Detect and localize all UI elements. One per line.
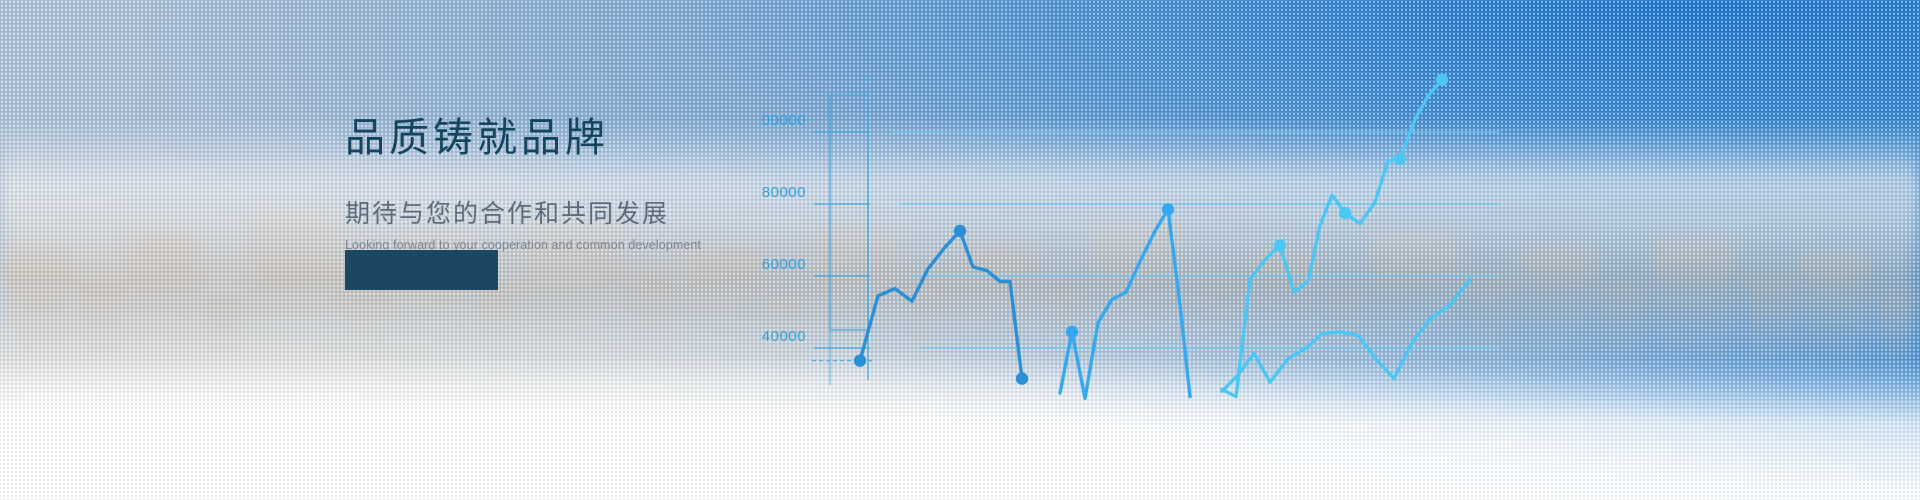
series-marker	[854, 354, 866, 366]
page-title: 品质铸就品牌	[345, 118, 765, 158]
series-marker	[1066, 326, 1078, 338]
series-line-series-1	[860, 231, 1022, 379]
chart-svg: 400006000080000100000	[760, 0, 1920, 500]
hero-cta-button[interactable]	[345, 250, 498, 290]
line-chart: 400006000080000100000	[760, 0, 1920, 500]
series-marker	[1274, 239, 1286, 251]
series-marker	[1016, 372, 1028, 384]
axis-box	[830, 95, 868, 330]
hero-subtitle-cn: 期待与您的合作和共同发展	[345, 202, 765, 227]
series-marker	[1339, 207, 1351, 219]
series-line-series-4	[1222, 280, 1470, 392]
series-marker	[1162, 203, 1174, 215]
chart-series-group	[854, 74, 1470, 399]
hero-text-block: 品质铸就品牌 期待与您的合作和共同发展 Looking forward to y…	[345, 118, 765, 252]
series-line-series-2	[1060, 209, 1190, 398]
chart-gridlines	[890, 132, 1500, 348]
y-axis-tick-label: 60000	[762, 256, 806, 273]
series-marker	[1394, 153, 1406, 165]
chart-y-tick-labels: 400006000080000100000	[760, 112, 806, 345]
y-axis-tick-label: 80000	[762, 184, 806, 201]
series-marker	[954, 225, 966, 237]
hero-banner: 品质铸就品牌 期待与您的合作和共同发展 Looking forward to y…	[0, 0, 1920, 500]
y-axis-tick-label: 40000	[762, 328, 806, 345]
series-marker	[1436, 74, 1448, 86]
y-axis-tick-label: 100000	[760, 112, 806, 129]
